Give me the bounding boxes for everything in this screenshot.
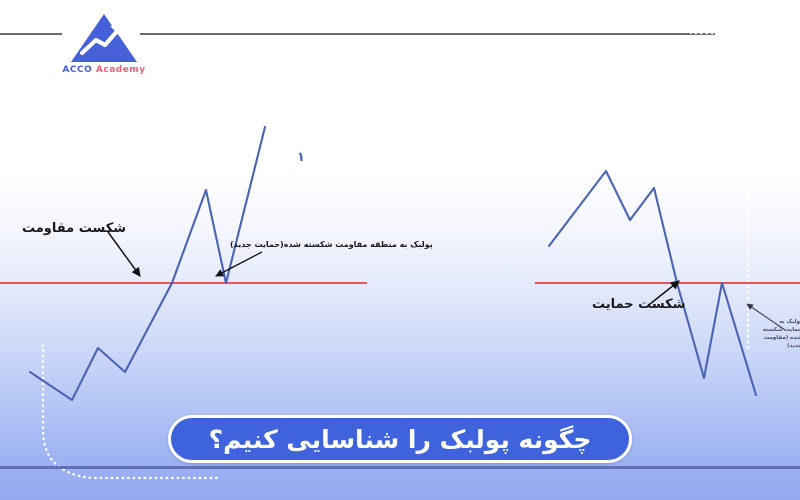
title-banner: چگونه پولبک را شناسایی کنیم؟ (168, 415, 632, 463)
infographic-canvas: ACCO Academy (0, 0, 800, 500)
banner-title: چگونه پولبک را شناسایی کنیم؟ (209, 425, 592, 454)
marker-digit-one: ۱ (297, 150, 305, 165)
bottom-rule (0, 466, 800, 469)
label-support-break: شکست حمایت (592, 298, 685, 312)
label-resistance-break: شکست مقاومت (22, 222, 126, 236)
arrow-resistance-break (108, 232, 140, 276)
price-path-left (30, 127, 265, 400)
label-pullback-new-resistance: پولبک به حمایت شکسته شده (مقاومت جدید) (760, 319, 800, 351)
label-pullback-new-support: پولبک به منطقه مقاومت شکسته شده(حمایت جد… (230, 241, 433, 250)
